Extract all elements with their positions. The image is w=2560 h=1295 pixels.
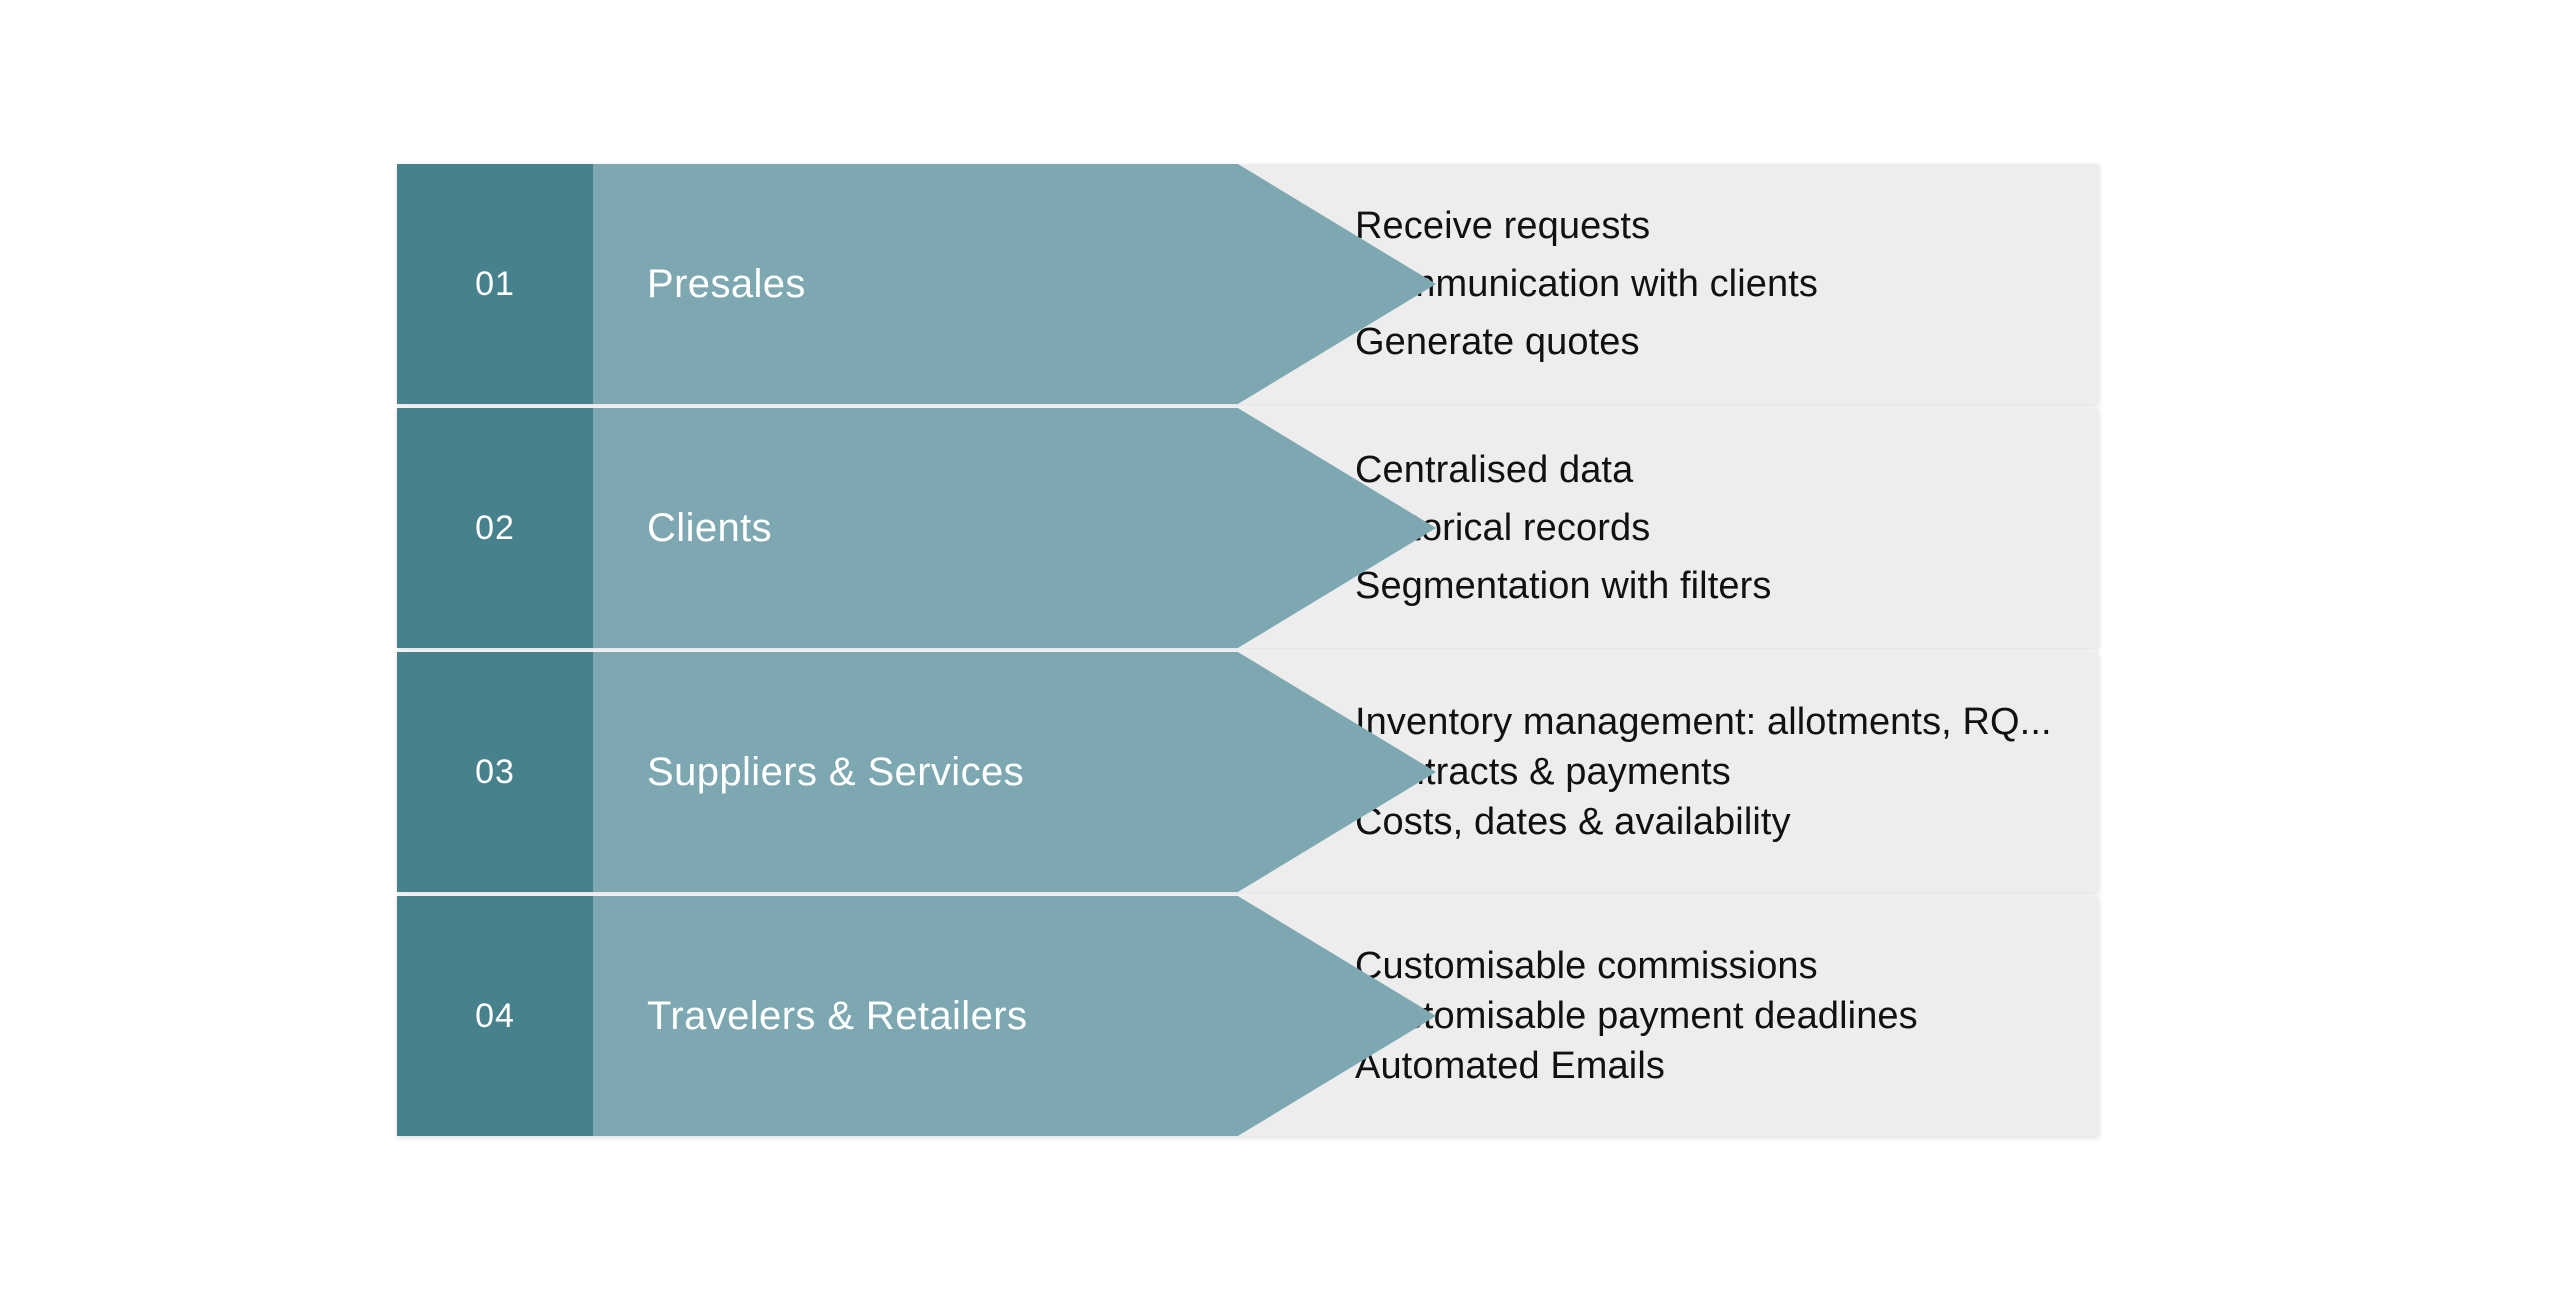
list-item: Centralised data xyxy=(1272,446,2075,494)
bullet-label: Costs, dates & availability xyxy=(1355,798,1791,846)
list-item: Receive requests xyxy=(1272,202,2075,250)
bullet-label: Inventory management: allotments, RQ... xyxy=(1355,698,2052,746)
list-item: Inventory management: allotments, RQ... xyxy=(1272,698,2075,746)
chevron-process-diagram: 01 Presales Receive requests Communicati… xyxy=(397,164,2099,1135)
list-item: Segmentation with filters xyxy=(1272,562,2075,610)
step-title: Travelers & Retailers xyxy=(593,993,1027,1039)
process-row[interactable]: 04 Travelers & Retailers Customisable co… xyxy=(397,896,2099,1136)
bullet-label: Customisable commissions xyxy=(1355,942,1818,990)
step-title: Suppliers & Services xyxy=(593,749,1024,795)
bullet-label: Customisable payment deadlines xyxy=(1355,992,1918,1040)
bullet-label: Centralised data xyxy=(1355,446,1633,494)
process-row[interactable]: 01 Presales Receive requests Communicati… xyxy=(397,164,2099,404)
bullet-label: Segmentation with filters xyxy=(1355,562,1771,610)
list-item: Costs, dates & availability xyxy=(1272,798,2075,846)
step-number-block: 02 xyxy=(397,408,593,648)
step-number: 04 xyxy=(475,999,515,1033)
step-title: Presales xyxy=(593,261,806,307)
list-item: Automated Emails xyxy=(1272,1042,2075,1090)
process-row[interactable]: 03 Suppliers & Services Inventory manage… xyxy=(397,652,2099,892)
step-number-block: 03 xyxy=(397,652,593,892)
step-number: 03 xyxy=(475,755,515,789)
step-number: 01 xyxy=(475,267,515,301)
list-item: Generate quotes xyxy=(1272,318,2075,366)
step-title: Clients xyxy=(593,505,772,551)
canvas: 01 Presales Receive requests Communicati… xyxy=(0,0,2560,1295)
step-number-block: 01 xyxy=(397,164,593,404)
process-row[interactable]: 02 Clients Centralised data Historical r… xyxy=(397,408,2099,648)
step-number: 02 xyxy=(475,511,515,545)
bullet-label: Automated Emails xyxy=(1355,1042,1665,1090)
bullet-label: Generate quotes xyxy=(1355,318,1640,366)
step-number-block: 04 xyxy=(397,896,593,1136)
bullet-label: Receive requests xyxy=(1355,202,1650,250)
list-item: Customisable commissions xyxy=(1272,942,2075,990)
